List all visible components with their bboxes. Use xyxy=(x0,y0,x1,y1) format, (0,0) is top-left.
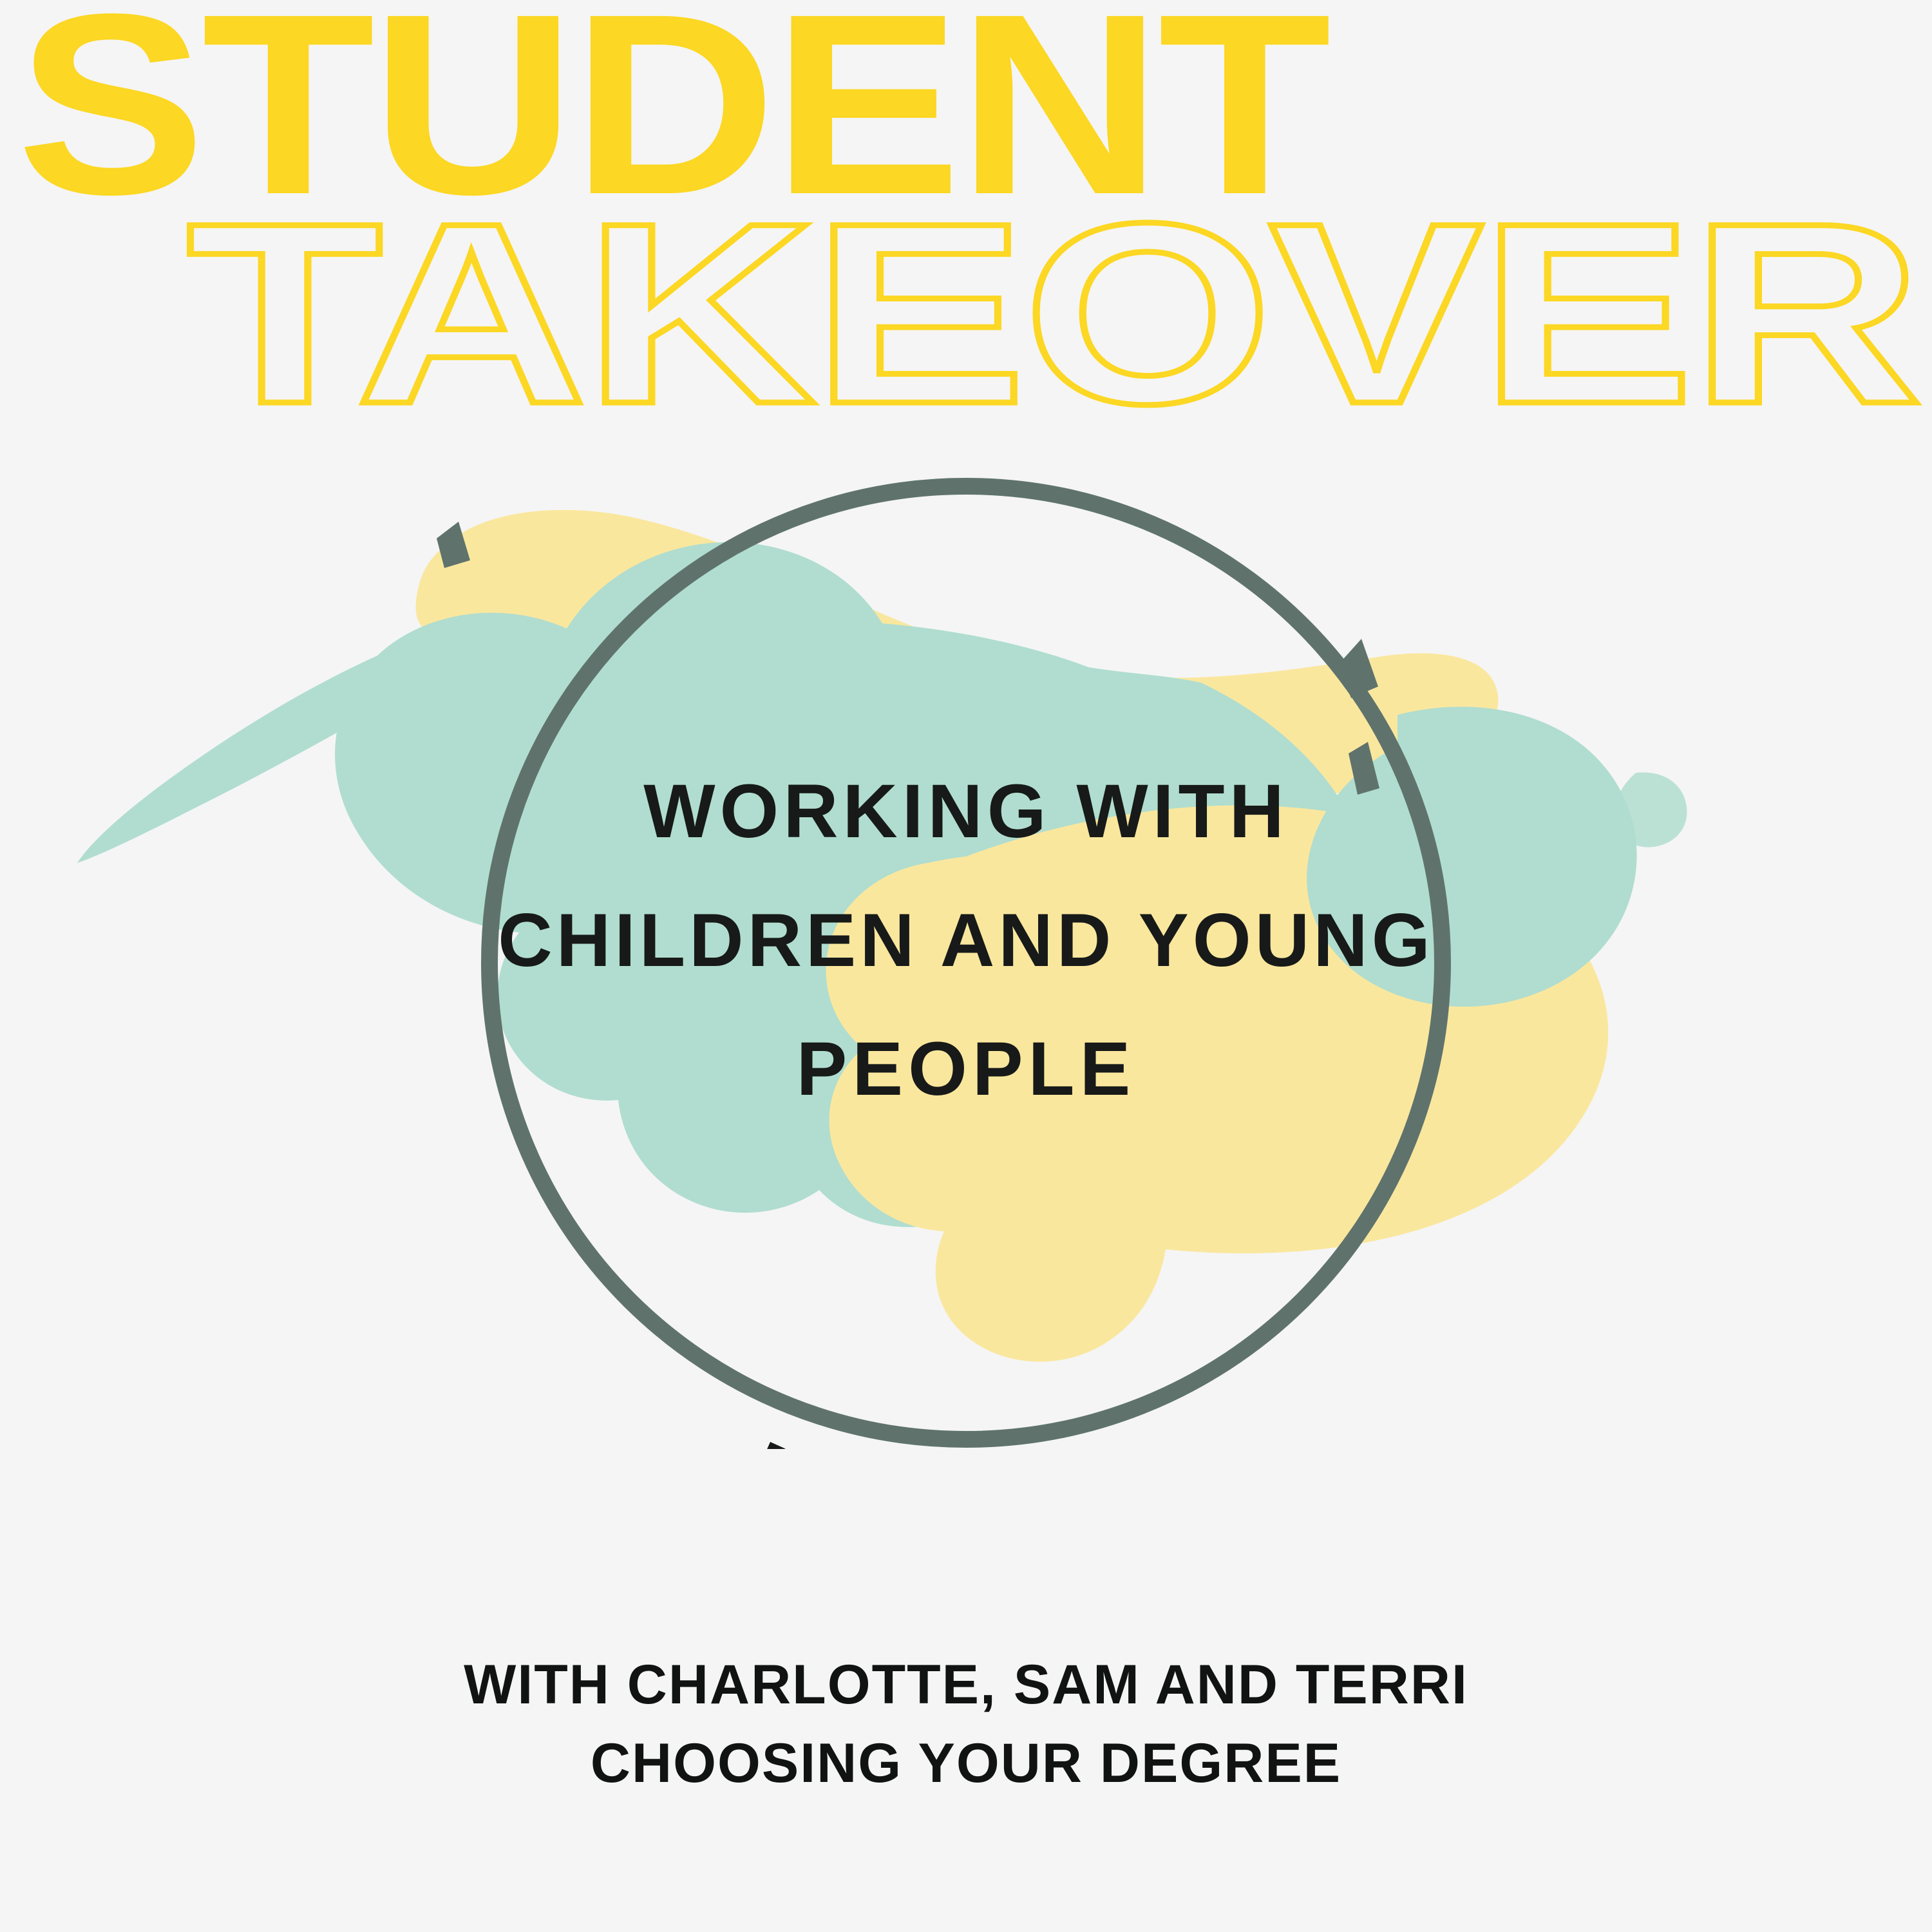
header-wordmark: STUDENT TAKEOVER xyxy=(0,0,1932,425)
podcast-cover-art: STUDENT TAKEOVER xyxy=(0,0,1932,1932)
podcast-curved-label-svg: PODCAST xyxy=(502,1153,1430,1449)
credits-episode-line: CHOOSING YOUR DEGREE xyxy=(0,1724,1932,1803)
header-title-student: STUDENT xyxy=(17,0,1331,248)
podcast-curved-label-wrap: PODCAST xyxy=(502,1153,1430,1449)
badge-title-line-3: PEOPLE xyxy=(0,1005,1932,1133)
badge-title: WORKING WITH CHILDREN AND YOUNG PEOPLE xyxy=(0,747,1932,1133)
credits-block: WITH CHARLOTTE, SAM AND TERRI CHOOSING Y… xyxy=(0,1645,1932,1803)
credits-hosts-line: WITH CHARLOTTE, SAM AND TERRI xyxy=(0,1645,1932,1724)
header-wordmark-svg: STUDENT TAKEOVER xyxy=(0,0,1932,425)
podcast-curved-label: PODCAST xyxy=(750,1431,1182,1449)
header-title-takeover: TAKEOVER xyxy=(187,169,1919,425)
badge-title-line-2: CHILDREN AND YOUNG xyxy=(0,876,1932,1005)
badge-title-line-1: WORKING WITH xyxy=(0,747,1932,876)
